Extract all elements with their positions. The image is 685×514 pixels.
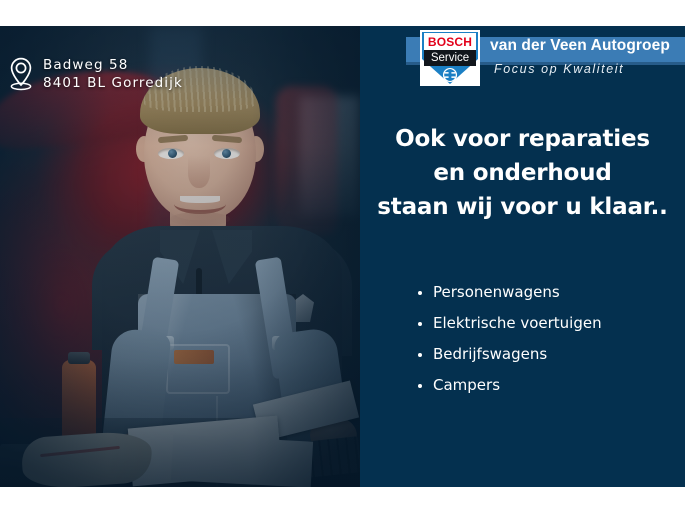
brand-lockup: BOSCH Service van der Veen Autogroep Foc… [406, 30, 685, 86]
pocket-tag [174, 350, 214, 364]
headline: Ook voor reparaties en onderhoud staan w… [360, 122, 685, 224]
headline-line-3: staan wij voor u klaar.. [360, 190, 685, 224]
address-text: Badweg 58 8401 BL Gorredijk [43, 56, 183, 92]
list-item: Personenwagens [418, 284, 602, 301]
list-item: Bedrijfswagens [418, 346, 602, 363]
smile [174, 194, 226, 214]
address-line-2: 8401 BL Gorredijk [43, 74, 183, 92]
work-gloves [20, 430, 153, 487]
bosch-service-logo: BOSCH Service [420, 30, 480, 86]
bosch-wordmark-text: BOSCH [428, 35, 472, 49]
address-block: Badweg 58 8401 BL Gorredijk [8, 56, 183, 92]
chin-shadow [170, 212, 230, 226]
pupil-right [222, 149, 231, 158]
paper-sheet-front [171, 434, 313, 487]
bottle-cap [68, 352, 90, 364]
bosch-wordmark: BOSCH [424, 33, 476, 50]
pupil-left [168, 149, 177, 158]
bosch-armature-icon [442, 68, 458, 82]
nose [188, 156, 210, 188]
bottle [62, 360, 96, 442]
brand-tagline: Focus op Kwaliteit [494, 62, 624, 76]
map-pin-icon [8, 57, 34, 91]
list-item: Campers [418, 377, 602, 394]
list-item: Elektrische voertuigen [418, 315, 602, 332]
mechanic-photo [0, 26, 360, 487]
address-line-1: Badweg 58 [43, 56, 183, 74]
headline-line-1: Ook voor reparaties [360, 122, 685, 156]
brand-name: van der Veen Autogroep [490, 37, 670, 55]
headline-line-2: en onderhoud [360, 156, 685, 190]
info-panel: BOSCH Service van der Veen Autogroep Foc… [360, 26, 685, 487]
bosch-service-word: Service [424, 50, 476, 66]
advertisement-banner: Badweg 58 8401 BL Gorredijk BOSCH Servic… [0, 26, 685, 487]
services-list: Personenwagens Elektrische voertuigen Be… [418, 284, 602, 408]
bosch-service-text: Service [431, 52, 469, 64]
